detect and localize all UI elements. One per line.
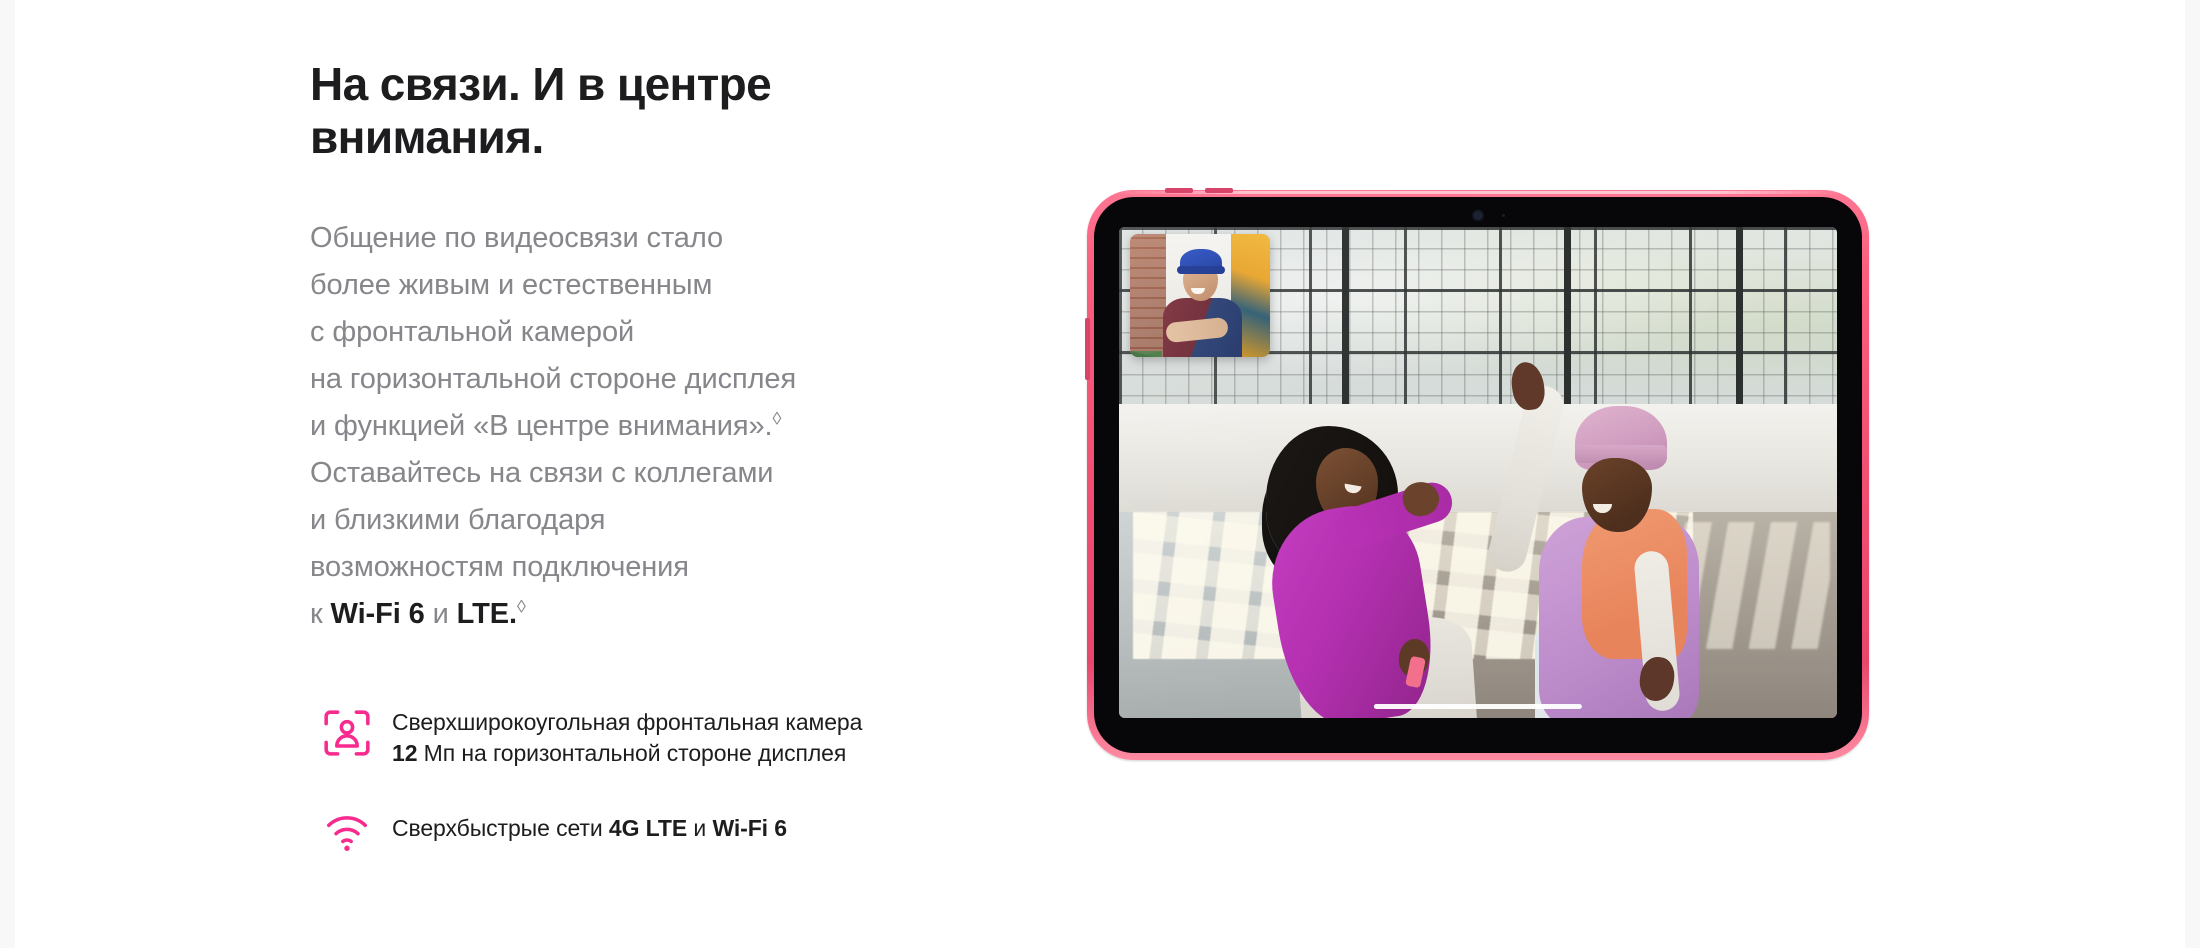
feature-network-mid: и [687,815,712,841]
facetime-pip-tile[interactable] [1130,234,1270,357]
body-line-9-mid: и [425,598,457,630]
parapet-wall [1119,404,1837,512]
lte-emphasis: LTE. [457,598,517,630]
ambient-sensor-icon [1502,214,1505,217]
feature-network-prefix: Сверхбыстрые сети [392,815,609,841]
body-line-7: и близкими благодаря [310,504,605,536]
footnote-marker-1: ◊ [772,408,781,428]
feature-network-text: Сверхбыстрые сети 4G LTE и Wi-Fi 6 [392,803,787,844]
body-line-2: более живым и естественным [310,269,712,301]
wifi-icon [320,803,374,857]
feature-item-camera: Сверхширокоугольная фронтальная камера 1… [320,706,1020,769]
power-button[interactable] [1165,188,1193,193]
window-mullion [1342,227,1349,404]
ipad-screen[interactable] [1119,227,1837,718]
page-root: На связи. И в центре внимания. Общение п… [0,0,2200,948]
feature-camera-line-2-rest: Мп на горизонтальной стороне дисплея [417,740,846,766]
ipad-device [1087,190,1869,760]
wifi6-emphasis: Wi-Fi 6 [331,598,425,630]
feature-network-wifi: Wi-Fi 6 [712,815,786,841]
body-line-3: с фронтальной камерой [310,316,634,348]
pip-plant [1131,298,1162,357]
body-line-5: и функцией «В центре внимания». [310,410,772,442]
ultrawide-front-camera-icon [320,706,374,760]
content-canvas: На связи. И в центре внимания. Общение п… [15,0,2185,948]
pip-person-beanie-brim [1177,266,1225,273]
window-mullion [1564,227,1571,404]
feature-network-lte: 4G LTE [609,815,687,841]
front-camera-lens-icon [1474,211,1483,220]
body-line-9-prefix: к [310,598,331,630]
copy-column: На связи. И в центре внимания. Общение п… [310,58,950,638]
window-mullion [1736,227,1743,404]
footnote-marker-2: ◊ [517,596,526,616]
body-line-1: Общение по видеосвязи стало [310,222,723,254]
body-line-8: возможностям подключения [310,551,689,583]
feature-item-network: Сверхбыстрые сети 4G LTE и Wi-Fi 6 [320,803,1020,857]
top-button-secondary[interactable] [1205,188,1233,193]
body-line-6: Оставайтесь на связи с коллегами [310,457,773,489]
volume-button[interactable] [1085,318,1090,380]
page-headline: На связи. И в центре внимания. [310,58,910,165]
device-bezel [1094,197,1862,753]
feature-camera-line-1: Сверхширокоугольная фронтальная камера [392,709,862,735]
body-line-4: на горизонтальной стороне дисплея [310,363,796,395]
facetime-video-scene [1119,227,1837,718]
feature-camera-text: Сверхширокоугольная фронтальная камера 1… [392,706,862,769]
home-indicator[interactable] [1374,704,1582,709]
feature-camera-megapixels: 12 [392,740,417,766]
body-paragraph: Общение по видеосвязи стало более живым … [310,215,950,638]
feature-list: Сверхширокоугольная фронтальная камера 1… [320,706,1020,891]
